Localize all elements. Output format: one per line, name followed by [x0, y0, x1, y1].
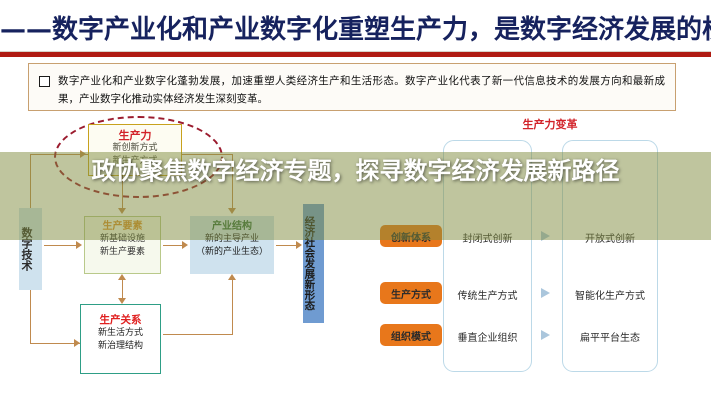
connector-line	[44, 245, 78, 246]
summary-textbox: 数字产业化和产业数字化蓬勃发展，加速重塑人类经济生产和生活形态。数字产业化代表了…	[28, 63, 676, 111]
summary-text: 数字产业化和产业数字化蓬勃发展，加速重塑人类经济生产和生活形态。数字产业化代表了…	[58, 72, 665, 109]
box-line-2: （新的产业生态）	[190, 246, 274, 259]
box-production-relations: 生产关系 新生活方式 新治理结构	[80, 304, 161, 374]
arrow-right-icon	[182, 241, 188, 249]
row-to-production-mode: 智能化生产方式	[560, 287, 660, 302]
arrow-up-icon	[228, 274, 236, 280]
square-bullet-icon	[39, 76, 50, 87]
page-title: ——数字产业化和产业数字化重塑生产力，是数字经济发展的核心	[0, 9, 711, 46]
connector-line	[163, 334, 233, 335]
arrow-right-icon	[541, 330, 550, 340]
box-title: 生产关系	[81, 314, 160, 327]
row-label-production-mode[interactable]: 生产方式	[380, 282, 442, 304]
right-diagram-title: 生产力变革	[440, 116, 660, 132]
row-to-organization-model: 扁平平台生态	[562, 329, 658, 344]
arrow-right-icon	[76, 241, 82, 249]
box-line-1: 新生活方式	[81, 327, 160, 340]
box-title: 生产力	[89, 129, 181, 142]
arrow-up-icon	[118, 274, 126, 280]
slide-header: ——数字产业化和产业数字化重塑生产力，是数字经济发展的核心	[0, 0, 711, 56]
bullet-row: 数字产业化和产业数字化蓬勃发展，加速重塑人类经济生产和生活形态。数字产业化代表了…	[39, 72, 665, 109]
slide-root: ——数字产业化和产业数字化重塑生产力，是数字经济发展的核心 数字产业化和产业数字…	[0, 0, 711, 400]
connector-line	[30, 290, 31, 344]
box-line-2: 新生产要素	[85, 246, 160, 259]
row-label-organization-model[interactable]: 组织模式	[380, 324, 442, 346]
arrow-right-icon	[541, 288, 550, 298]
header-divider	[0, 51, 711, 57]
box-line-2: 新治理结构	[81, 340, 160, 353]
connector-line	[232, 278, 233, 335]
arrow-right-icon	[296, 241, 302, 249]
row-from-production-mode: 传统生产方式	[443, 287, 532, 302]
row-from-organization-model: 垂直企业组织	[443, 329, 532, 344]
headline-text: 政协聚焦数字经济专题，探寻数字经济发展新路径	[0, 156, 711, 187]
